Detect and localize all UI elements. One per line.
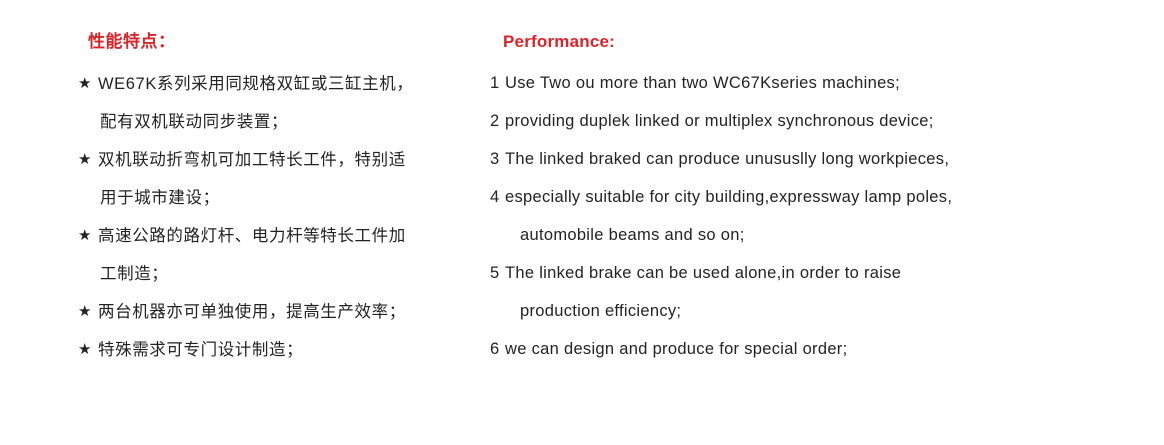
list-item-text: especially suitable for city building,ex… (505, 178, 1050, 254)
english-performance-list: 1 Use Two ou more than two WC67Kseries m… (490, 64, 1050, 368)
spec-sheet: 性能特点： ★ WE67K系列采用同规格双缸或三缸主机， 配有双机联动同步装置；… (0, 0, 1164, 445)
list-item-number: 6 (490, 330, 505, 368)
list-item-text: we can design and produce for special or… (505, 330, 1050, 368)
list-item-line: Use Two ou more than two WC67Kseries mac… (505, 74, 900, 92)
list-item-number: 1 (490, 64, 505, 102)
list-item: 4 especially suitable for city building,… (490, 178, 1050, 254)
english-performance-column: Performance: 1 Use Two ou more than two … (0, 0, 659, 368)
list-item-number: 5 (490, 254, 505, 292)
list-item-line: providing duplek linked or multiplex syn… (505, 112, 934, 130)
list-item-line: we can design and produce for special or… (505, 340, 847, 358)
list-item-continuation: production efficiency; (505, 292, 1050, 330)
list-item-line: The linked brake can be used alone,in or… (505, 264, 901, 282)
list-item-line: The linked braked can produce unususlly … (505, 150, 949, 168)
list-item-number: 2 (490, 102, 505, 140)
list-item: 3 The linked braked can produce unususll… (490, 140, 1050, 178)
list-item-text: The linked brake can be used alone,in or… (505, 254, 1050, 330)
list-item-continuation: automobile beams and so on; (505, 216, 1050, 254)
list-item-text: providing duplek linked or multiplex syn… (505, 102, 1050, 140)
list-item-text: The linked braked can produce unususlly … (505, 140, 1050, 178)
list-item-text: Use Two ou more than two WC67Kseries mac… (505, 64, 1050, 102)
list-item-line: especially suitable for city building,ex… (505, 188, 952, 206)
list-item-number: 4 (490, 178, 505, 216)
list-item: 2 providing duplek linked or multiplex s… (490, 102, 1050, 140)
list-item: 6 we can design and produce for special … (490, 330, 1050, 368)
list-item-number: 3 (490, 140, 505, 178)
list-item: 5 The linked brake can be used alone,in … (490, 254, 1050, 330)
list-item: 1 Use Two ou more than two WC67Kseries m… (490, 64, 1050, 102)
english-section-heading: Performance: (503, 33, 1050, 50)
